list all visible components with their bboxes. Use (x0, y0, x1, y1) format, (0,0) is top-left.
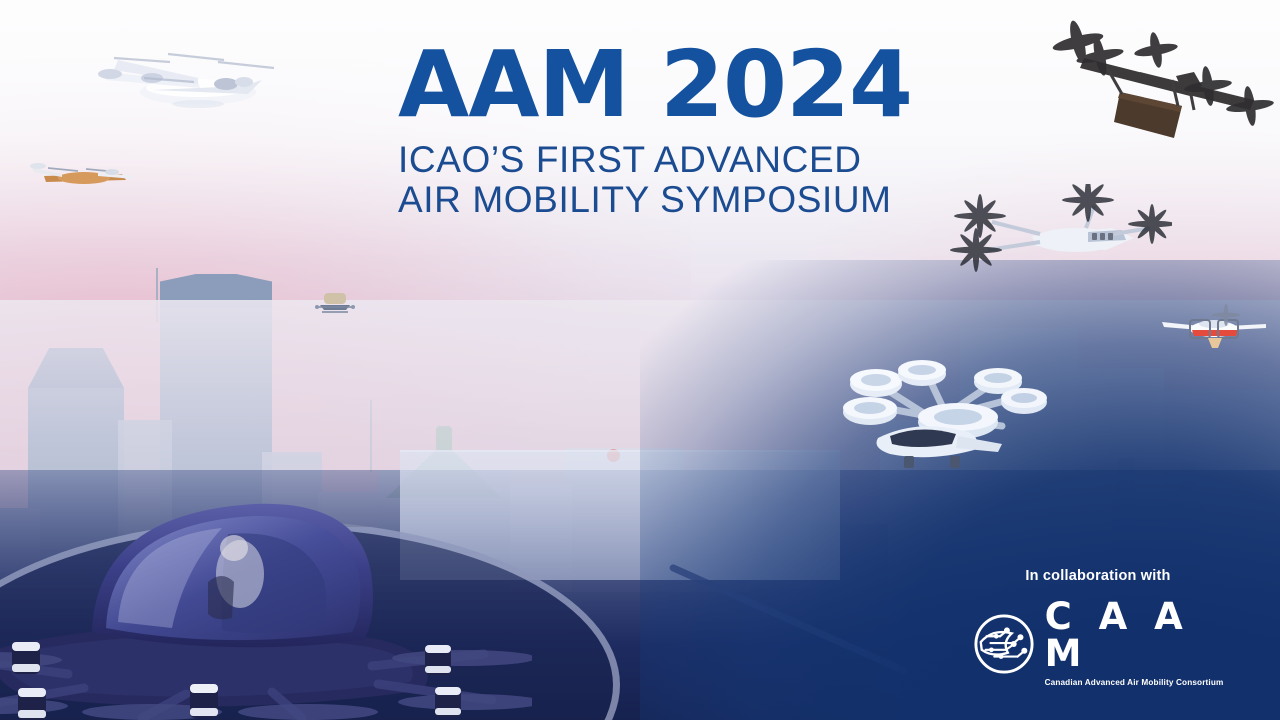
quadcopter-parcel-drone (310, 285, 360, 321)
caam-logo-lockup: C A A M Canadian Advanced Air Mobility C… (978, 598, 1218, 690)
multirotor-evtol-right (936, 184, 1172, 292)
antenna-mast-left (156, 268, 158, 322)
caam-circuit-emblem-icon (973, 613, 1035, 675)
collaboration-block: In collaboration with (978, 568, 1218, 690)
page-title: AAM 2024 (398, 40, 898, 130)
cargo-drone-top-right (1044, 14, 1280, 148)
subtitle-line-1: ICAO’S FIRST ADVANCED (398, 140, 898, 180)
passenger-pod-foreground (0, 462, 532, 720)
dome-cupola (436, 426, 452, 450)
caam-full-name: Canadian Advanced Air Mobility Consortiu… (1045, 678, 1224, 687)
caam-acronym: C A A M (1045, 595, 1190, 675)
building-left-angled-crown (28, 348, 124, 388)
small-delivery-drone-right (1156, 300, 1270, 360)
winged-evtol-top-left (48, 36, 288, 122)
building-left-glass-tower-crown (160, 274, 272, 308)
subtitle-line-2: AIR MOBILITY SYMPOSIUM (398, 180, 898, 220)
collaboration-label: In collaboration with (978, 568, 1218, 584)
poster-title-block: AAM 2024 ICAO’S FIRST ADVANCED AIR MOBIL… (398, 40, 898, 220)
poster-subtitle: ICAO’S FIRST ADVANCED AIR MOBILITY SYMPO… (398, 140, 898, 220)
vertiport-strut-right (669, 563, 909, 675)
delivery-drone-left (26, 150, 138, 198)
caam-wordmark: C A A M Canadian Advanced Air Mobility C… (1045, 598, 1224, 690)
ducted-fan-evtol-center (832, 340, 1050, 468)
poster-canvas: AAM 2024 ICAO’S FIRST ADVANCED AIR MOBIL… (0, 0, 1280, 720)
